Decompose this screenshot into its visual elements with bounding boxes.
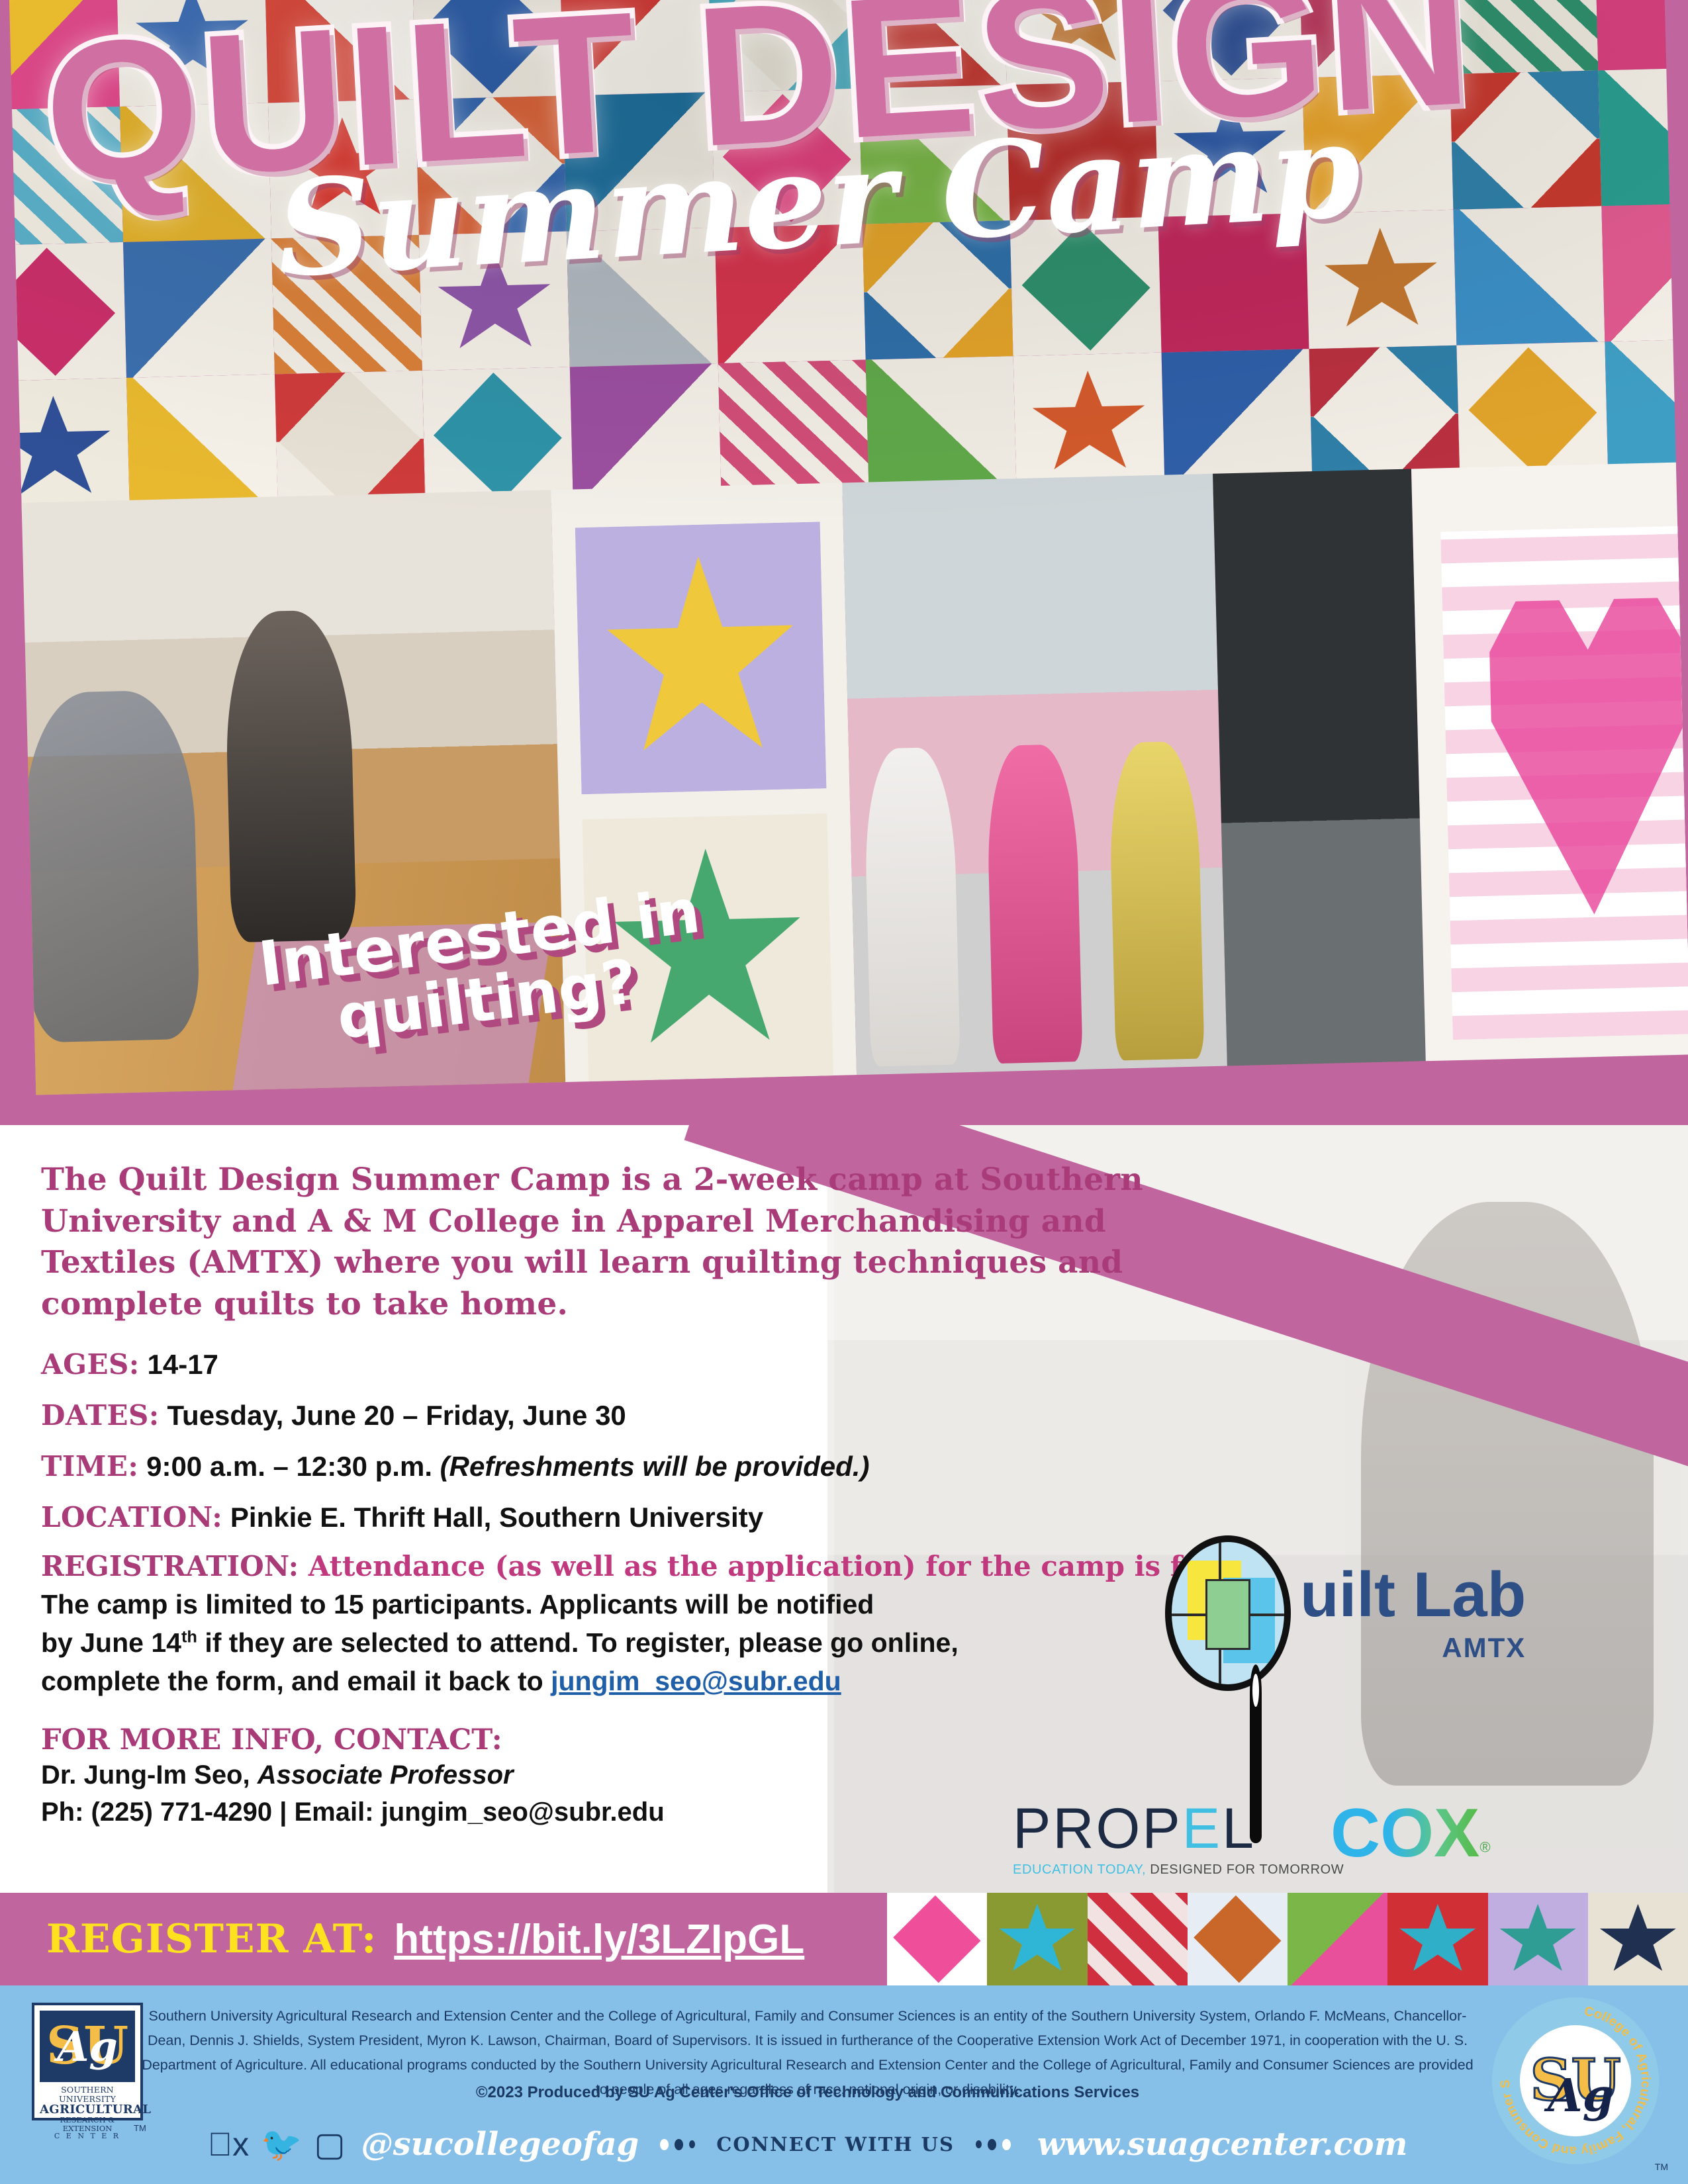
su-logo-line-1: SOUTHERN UNIVERSITY: [40, 2085, 135, 2103]
photo-tshirt-quilt: [1213, 469, 1427, 1095]
camp-description: The Quilt Design Summer Camp is a 2-week…: [41, 1160, 1233, 1325]
copyright-line: ©2023 Produced by SU Ag Center's Office …: [139, 2083, 1476, 2102]
dates-value: Tuesday, June 20 – Friday, June 30: [167, 1400, 626, 1431]
contact-heading: FOR MORE INFO, CONTACT:: [41, 1723, 1233, 1756]
sponsor-logos: uilt Lab AMTX PROPEL EDUCATION TODAY, DE…: [1165, 1535, 1688, 1880]
detail-row-dates: DATES: Tuesday, June 20 – Friday, June 3…: [41, 1394, 1233, 1436]
time-label: TIME:: [41, 1450, 138, 1482]
propel-tagline-dark: DESIGNED FOR TOMORROW: [1146, 1862, 1344, 1877]
quilt-block-orange-medallion: [1188, 1893, 1288, 1985]
quilt-lab-q-icon: [1165, 1535, 1291, 1691]
twitter-icon[interactable]: 🐦: [261, 2128, 302, 2161]
registration-line-2b: if they are selected to attend. To regis…: [197, 1627, 959, 1658]
photo-collage-row: [9, 461, 1688, 1095]
quilt-block-red-teal-star: [1387, 1893, 1487, 1985]
time-note: (Refreshments will be provided.): [440, 1451, 870, 1482]
instagram-icon[interactable]: ▢: [314, 2128, 345, 2161]
propel-logo: PROPEL EDUCATION TODAY, DESIGNED FOR TOM…: [1013, 1800, 1344, 1878]
registration-body: The camp is limited to 15 participants. …: [41, 1585, 1233, 1701]
propel-tagline: EDUCATION TODAY, DESIGNED FOR TOMORROW: [1013, 1862, 1344, 1878]
hero-collage: [9, 0, 1688, 1095]
seal-trademark: TM: [1655, 2161, 1668, 2172]
seal-inner-mark: SUAg: [1520, 2025, 1631, 2136]
register-at-label: REGISTER AT:: [46, 1916, 377, 1962]
detail-row-time: TIME: 9:00 a.m. – 12:30 p.m. (Refreshmen…: [41, 1445, 1233, 1487]
social-handle[interactable]: @sucollegeofag: [361, 2126, 639, 2163]
location-value: Pinkie E. Thrift Hall, Southern Universi…: [230, 1502, 763, 1533]
photo-heart-quilt-block: [1411, 461, 1688, 1095]
contact-title: Associate Professor: [258, 1760, 514, 1790]
register-url-link[interactable]: https://bit.ly/3LZIpGL: [394, 1916, 804, 1963]
camp-details-list: AGES: 14-17 DATES: Tuesday, June 20 – Fr…: [41, 1343, 1233, 1538]
footer: SUAg SOUTHERN UNIVERSITY AGRICULTURAL RE…: [0, 1985, 1688, 2184]
detail-row-ages: AGES: 14-17: [41, 1343, 1233, 1385]
quilt-block-olive-star: [987, 1893, 1087, 1985]
social-row: x 🐦 ▢ @sucollegeofag CONNECT WITH US ww…: [139, 2126, 1476, 2163]
quilt-block-heart: [887, 1893, 987, 1985]
su-logo-line-4: C E N T E R: [40, 2132, 135, 2140]
ages-label: AGES:: [41, 1348, 140, 1381]
su-ag-mark-icon: SUAg: [40, 2011, 135, 2082]
propel-e: E: [1182, 1797, 1222, 1860]
su-ag-center-logo: SUAg SOUTHERN UNIVERSITY AGRICULTURAL RE…: [32, 2003, 143, 2120]
connect-with-us-label: CONNECT WITH US: [716, 2133, 955, 2156]
registration-line-2: by June 14th if they are selected to att…: [41, 1623, 1233, 1662]
hero-banner: QUILT DESIGN Summer Camp Interested in q…: [0, 0, 1688, 1145]
info-content: The Quilt Design Summer Camp is a 2-week…: [41, 1160, 1233, 1831]
propel-l: L: [1222, 1797, 1256, 1860]
dot-separator-right: [976, 2139, 1011, 2150]
quilt-patchwork-backdrop: [9, 0, 1688, 517]
propel-prop: PROP: [1013, 1797, 1182, 1860]
registration-line-1: The camp is limited to 15 participants. …: [41, 1585, 1233, 1623]
contact-name: Dr. Jung-Im Seo,: [41, 1760, 250, 1790]
propel-tagline-cyan: EDUCATION TODAY,: [1013, 1862, 1146, 1877]
quilt-lab-subtitle: AMTX: [1300, 1632, 1526, 1664]
college-of-ag-seal: College of Agricultural, Family and Cons…: [1492, 1997, 1659, 2164]
quilt-block-navy-star: [1588, 1893, 1688, 1985]
registration-ordinal-suffix: th: [181, 1628, 197, 1647]
quilt-lab-logo: uilt Lab AMTX: [1165, 1535, 1526, 1691]
photo-campers-group: [842, 474, 1228, 1095]
contact-person: Dr. Jung-Im Seo, Associate Professor: [41, 1756, 1233, 1794]
cox-logo: COX®: [1331, 1799, 1491, 1868]
registration-label: REGISTRATION:: [41, 1550, 299, 1582]
contact-email-link[interactable]: jungim_seo@subr.edu: [551, 1666, 841, 1696]
registration-heading: REGISTRATION: Attendance (as well as the…: [41, 1550, 1233, 1582]
dot-separator-left: [660, 2139, 695, 2150]
photo-classroom-quilting: [9, 490, 567, 1095]
cox-registered-mark: ®: [1479, 1839, 1490, 1856]
dates-label: DATES:: [41, 1399, 160, 1432]
quilt-lab-name: uilt Lab: [1300, 1563, 1526, 1627]
registration-line-3a: complete the form, and email it back to: [41, 1666, 551, 1696]
time-value: 9:00 a.m. – 12:30 p.m.: [146, 1451, 432, 1482]
cox-wordmark: COX: [1331, 1795, 1479, 1872]
facebook-icon[interactable]: x: [208, 2128, 250, 2161]
photo-quilt-star-block: [551, 482, 857, 1095]
su-logo-line-3: RESEARCH & EXTENSION: [40, 2116, 135, 2132]
registration-line-3: complete the form, and email it back to …: [41, 1662, 1233, 1700]
quilt-block-pink-green-spiral: [1288, 1893, 1387, 1985]
website-link[interactable]: www.suagcenter.com: [1037, 2126, 1407, 2163]
quilt-lab-wordmark: uilt Lab AMTX: [1300, 1563, 1526, 1664]
ages-value: 14-17: [147, 1349, 218, 1380]
quilt-block-lavender-star: [1488, 1893, 1588, 1985]
register-bar: REGISTER AT: https://bit.ly/3LZIpGL: [0, 1893, 1688, 1985]
location-label: LOCATION:: [41, 1501, 222, 1533]
quilt-block-strip: [887, 1893, 1688, 1985]
quilt-block-red-scrap: [1088, 1893, 1188, 1985]
registration-free-note: Attendance (as well as the application) …: [308, 1550, 1244, 1582]
su-logo-line-2: AGRICULTURAL: [40, 2103, 135, 2116]
propel-wordmark: PROPEL: [1013, 1800, 1344, 1857]
detail-row-location: LOCATION: Pinkie E. Thrift Hall, Souther…: [41, 1496, 1233, 1538]
registration-line-2a: by June 14: [41, 1627, 181, 1658]
